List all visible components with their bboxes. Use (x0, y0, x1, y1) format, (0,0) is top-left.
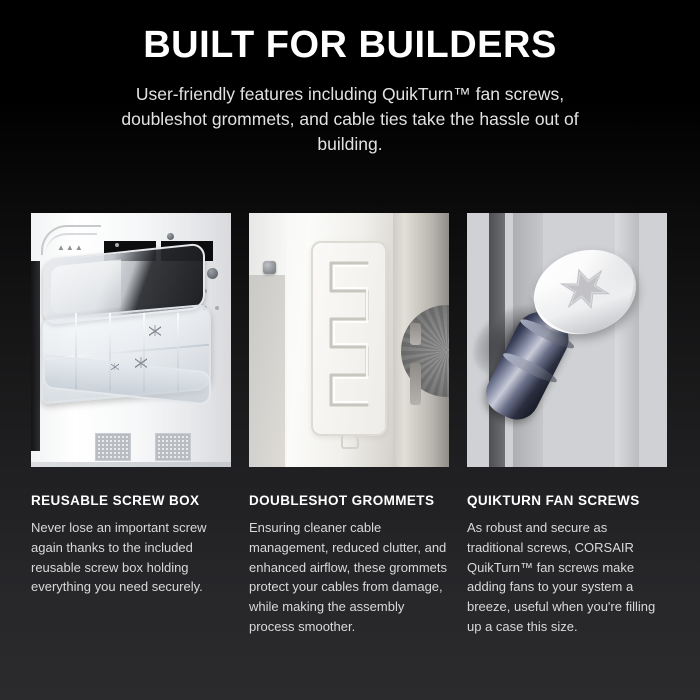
screw-cluster-c (111, 363, 119, 370)
feature-columns: ▲▲▲ (31, 213, 669, 637)
corsair-sails-logo-icon: ▲▲▲ (57, 243, 84, 252)
quikturn-fan-screw-photo (467, 213, 667, 467)
doubleshot-grommet-photo (249, 213, 449, 467)
feature-body: Never lose an important screw again than… (31, 518, 231, 597)
feature-heading: REUSABLE SCREW BOX (31, 493, 231, 509)
screw-cluster-b (135, 357, 147, 368)
grommet-zigzag-channel (321, 257, 377, 419)
case-bottom-edge (31, 462, 231, 467)
feature-heading: DOUBLESHOT GROMMETS (249, 493, 449, 509)
case-screw-hole-top (167, 233, 174, 240)
page-subtitle: User-friendly features including QuikTur… (115, 82, 585, 157)
case-hole-dot-d (115, 243, 119, 247)
feature-column-doubleshot-grommets: DOUBLESHOT GROMMETS Ensuring cleaner cab… (249, 213, 449, 637)
page-title: BUILT FOR BUILDERS (0, 26, 700, 66)
header: BUILT FOR BUILDERS User-friendly feature… (0, 0, 700, 156)
feature-column-reusable-screw-box: ▲▲▲ (31, 213, 231, 637)
case-hole-dot-c (215, 306, 219, 310)
cable-slot-lower (410, 363, 421, 405)
reusable-screw-box-photo: ▲▲▲ (31, 213, 231, 467)
grommet-tab (341, 435, 359, 449)
case-vent-right (155, 433, 191, 461)
background-stripe-soft (615, 213, 639, 467)
screw-cluster-a (149, 325, 161, 336)
feature-body: As robust and secure as traditional scre… (467, 518, 667, 637)
case-left-rail (31, 261, 40, 451)
feature-body: Ensuring cleaner cable management, reduc… (249, 518, 449, 637)
screw-thread-lower (501, 349, 559, 386)
feature-heading: QUIKTURN FAN SCREWS (467, 493, 667, 509)
case-vent-left (95, 433, 131, 461)
screw-box-lid-highlight (51, 259, 121, 314)
built-for-builders-panel: BUILT FOR BUILDERS User-friendly feature… (0, 0, 700, 700)
panel-thumbscrew-icon (263, 261, 276, 274)
case-recess (249, 275, 285, 467)
case-screw-hole-right (207, 268, 218, 279)
feature-column-quikturn-fan-screws: QUIKTURN FAN SCREWS As robust and secure… (467, 213, 667, 637)
cable-slot-upper (410, 323, 421, 345)
